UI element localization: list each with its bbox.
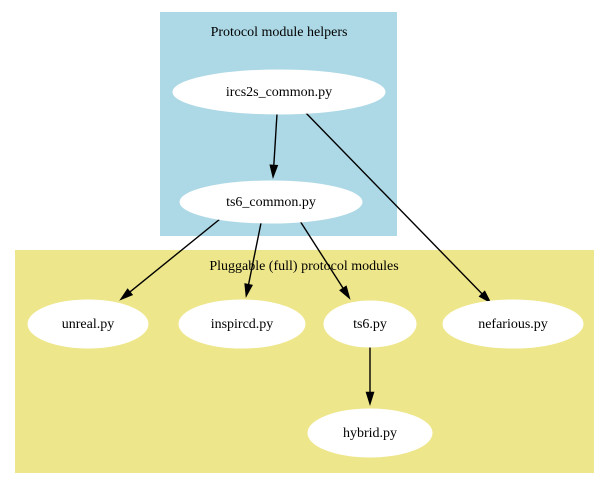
node-unreal-label: unreal.py [62,317,114,332]
node-hybrid-label: hybrid.py [343,426,397,441]
node-inspircd[interactable]: inspircd.py [179,300,305,348]
node-unreal[interactable]: unreal.py [28,300,148,348]
node-inspircd-label: inspircd.py [211,317,274,332]
cluster-protocol-module-helpers-label: Protocol module helpers [211,25,348,40]
node-ts6[interactable]: ts6.py [324,301,416,347]
node-nefarious-label: nefarious.py [478,317,548,332]
node-hybrid[interactable]: hybrid.py [308,409,432,457]
node-ircs2s_common-label: ircs2s_common.py [226,85,332,100]
node-ts6-label: ts6.py [353,317,387,332]
node-ts6_common[interactable]: ts6_common.py [180,181,362,223]
cluster-pluggable-full-protocol-modules-box [15,250,594,473]
cluster-pluggable-full-protocol-modules-label: Pluggable (full) protocol modules [209,259,398,274]
node-ircs2s_common[interactable]: ircs2s_common.py [173,70,385,114]
node-ts6_common-label: ts6_common.py [226,195,316,210]
cluster-pluggable-full-protocol-modules: Pluggable (full) protocol modules [15,250,594,473]
node-nefarious[interactable]: nefarious.py [443,300,583,348]
protocol-module-dependency-diagram: Protocol module helpers Pluggable (full)… [0,0,609,490]
graph-canvas: Protocol module helpers Pluggable (full)… [0,0,609,490]
